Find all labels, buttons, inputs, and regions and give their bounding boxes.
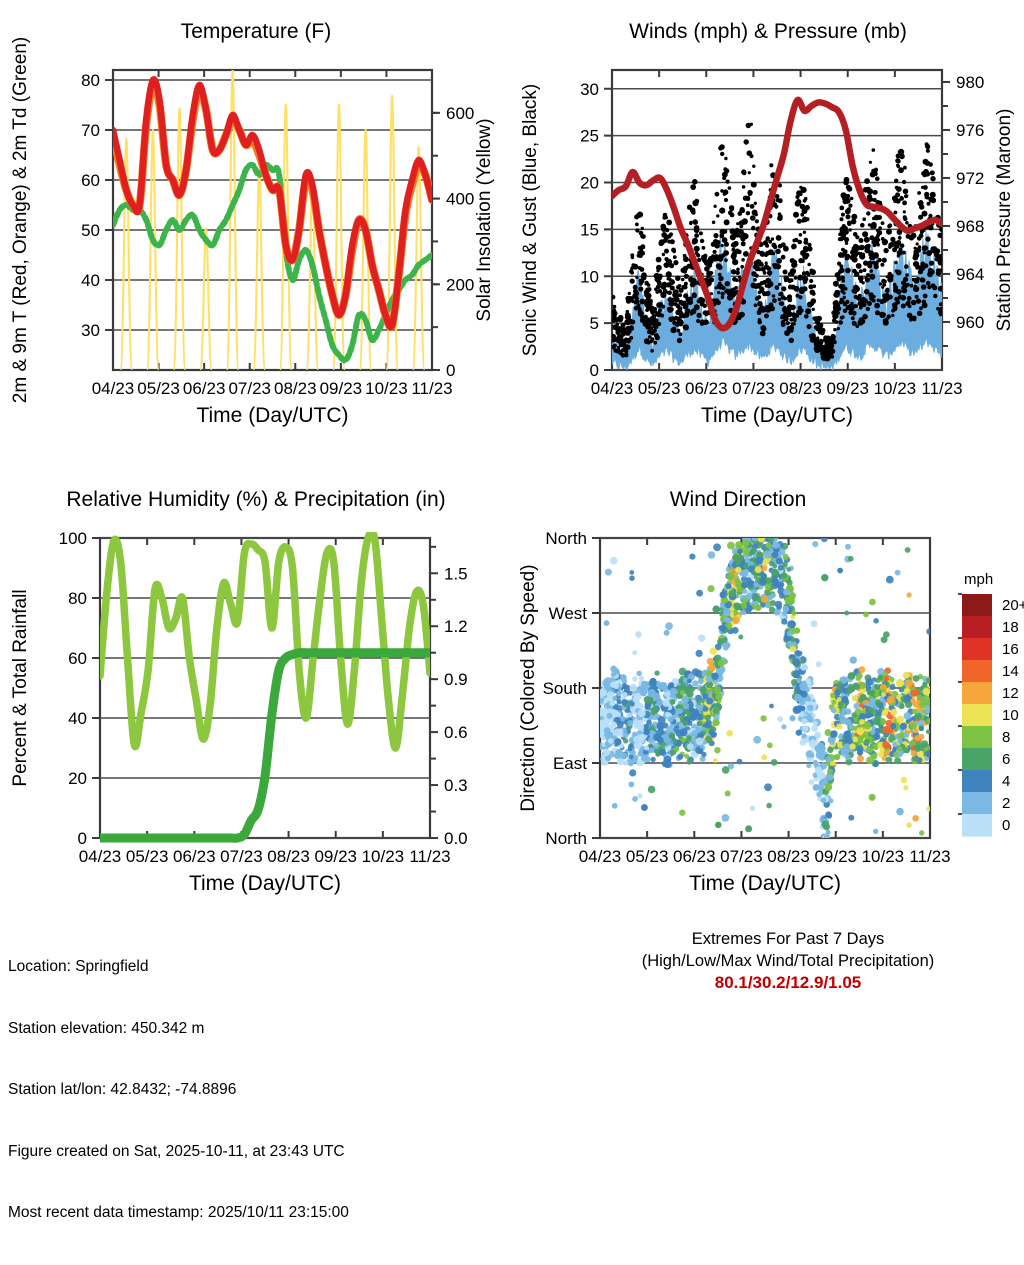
svg-text:10: 10 — [580, 267, 599, 286]
svg-text:980: 980 — [956, 73, 984, 92]
weather-dashboard: Temperature (F) 04/2305/2306/2307/2308/2… — [0, 0, 1024, 1024]
svg-text:10/23: 10/23 — [862, 847, 905, 866]
svg-text:10/23: 10/23 — [365, 379, 408, 398]
svg-text:08/23: 08/23 — [779, 379, 822, 398]
svg-text:4: 4 — [1002, 773, 1010, 790]
svg-text:600: 600 — [446, 104, 474, 123]
svg-text:09/23: 09/23 — [314, 847, 357, 866]
svg-text:968: 968 — [956, 217, 984, 236]
svg-text:0.3: 0.3 — [444, 776, 468, 795]
svg-text:964: 964 — [956, 265, 984, 284]
panel-title-wind-direction: Wind Direction — [482, 488, 994, 512]
svg-text:0.9: 0.9 — [444, 670, 468, 689]
svg-text:30: 30 — [81, 321, 100, 340]
panel-winds: Winds (mph) & Pressure (mb) 04/2305/2306… — [512, 20, 1024, 450]
svg-text:mph: mph — [964, 571, 993, 588]
extremes-block: Extremes For Past 7 Days (High/Low/Max W… — [588, 928, 988, 994]
svg-text:14: 14 — [1002, 663, 1019, 680]
svg-text:10/23: 10/23 — [874, 379, 917, 398]
svg-text:8: 8 — [1002, 729, 1010, 746]
svg-text:Station Pressure (Maroon): Station Pressure (Maroon) — [994, 109, 1015, 332]
svg-text:30: 30 — [580, 80, 599, 99]
svg-text:07/23: 07/23 — [220, 847, 263, 866]
svg-text:400: 400 — [446, 190, 474, 209]
svg-text:0: 0 — [446, 361, 455, 380]
svg-text:960: 960 — [956, 313, 984, 332]
svg-text:Time (Day/UTC): Time (Day/UTC) — [196, 404, 348, 427]
svg-text:1.2: 1.2 — [444, 617, 468, 636]
svg-text:80: 80 — [81, 71, 100, 90]
svg-text:Direction (Colored By Speed): Direction (Colored By Speed) — [518, 564, 539, 811]
svg-text:100: 100 — [59, 529, 87, 548]
svg-text:North: North — [545, 529, 587, 548]
svg-text:6: 6 — [1002, 751, 1010, 768]
svg-text:06/23: 06/23 — [685, 379, 728, 398]
svg-text:08/23: 08/23 — [767, 847, 810, 866]
footer-line-latlon: Station lat/lon: 42.8432; -74.8896 — [8, 1080, 349, 1101]
svg-text:50: 50 — [81, 221, 100, 240]
panel-wind-direction: Wind Direction 04/2305/2306/2307/2308/23… — [512, 488, 1024, 918]
svg-text:Time (Day/UTC): Time (Day/UTC) — [689, 872, 841, 895]
svg-text:2m & 9m T (Red, Orange) & 2m T: 2m & 9m T (Red, Orange) & 2m Td (Green) — [10, 37, 31, 403]
footer-line-elevation: Station elevation: 450.342 m — [8, 1019, 349, 1040]
svg-text:18: 18 — [1002, 619, 1019, 636]
svg-text:5: 5 — [590, 314, 599, 333]
svg-text:04/23: 04/23 — [579, 847, 622, 866]
svg-text:12: 12 — [1002, 685, 1019, 702]
svg-text:08/23: 08/23 — [274, 379, 317, 398]
svg-text:07/23: 07/23 — [720, 847, 763, 866]
temperature-chart: 04/2305/2306/2307/2308/2309/2310/2311/23… — [0, 20, 512, 450]
footer-line-created: Figure created on Sat, 2025-10-11, at 23… — [8, 1142, 349, 1163]
svg-text:10/23: 10/23 — [362, 847, 405, 866]
svg-text:0: 0 — [1002, 817, 1010, 834]
svg-text:200: 200 — [446, 275, 474, 294]
svg-text:North: North — [545, 829, 587, 848]
svg-text:07/23: 07/23 — [228, 379, 271, 398]
svg-text:40: 40 — [81, 271, 100, 290]
svg-text:Time (Day/UTC): Time (Day/UTC) — [189, 872, 341, 895]
svg-text:05/23: 05/23 — [638, 379, 681, 398]
svg-text:07/23: 07/23 — [732, 379, 775, 398]
svg-text:10: 10 — [1002, 707, 1019, 724]
svg-text:09/23: 09/23 — [320, 379, 363, 398]
svg-text:South: South — [543, 679, 587, 698]
svg-text:11/23: 11/23 — [409, 847, 450, 866]
panel-title-winds: Winds (mph) & Pressure (mb) — [512, 20, 1024, 44]
svg-text:11/23: 11/23 — [909, 847, 950, 866]
svg-text:976: 976 — [956, 121, 984, 140]
footer-metadata: Location: Springfield Station elevation:… — [8, 916, 349, 1265]
svg-text:2: 2 — [1002, 795, 1010, 812]
svg-text:05/23: 05/23 — [626, 847, 669, 866]
svg-text:60: 60 — [68, 649, 87, 668]
svg-text:60: 60 — [81, 171, 100, 190]
svg-text:06/23: 06/23 — [183, 379, 226, 398]
svg-text:0.0: 0.0 — [444, 829, 468, 848]
svg-text:Sonic Wind & Gust (Blue, Black: Sonic Wind & Gust (Blue, Black) — [520, 84, 541, 356]
svg-text:04/23: 04/23 — [591, 379, 634, 398]
wind-direction-chart: 04/2305/2306/2307/2308/2309/2310/2311/23… — [512, 488, 1024, 918]
svg-text:09/23: 09/23 — [826, 379, 869, 398]
svg-text:06/23: 06/23 — [173, 847, 216, 866]
footer-line-location: Location: Springfield — [8, 957, 349, 978]
svg-text:20: 20 — [580, 174, 599, 193]
svg-text:East: East — [553, 754, 587, 773]
svg-text:04/23: 04/23 — [92, 379, 135, 398]
svg-text:40: 40 — [68, 709, 87, 728]
svg-text:West: West — [549, 604, 588, 623]
svg-text:20: 20 — [68, 769, 87, 788]
svg-text:08/23: 08/23 — [267, 847, 310, 866]
svg-text:80: 80 — [68, 589, 87, 608]
panel-title-humidity: Relative Humidity (%) & Precipitation (i… — [0, 488, 512, 512]
svg-text:Time (Day/UTC): Time (Day/UTC) — [701, 404, 853, 427]
svg-text:16: 16 — [1002, 641, 1019, 658]
footer-line-timestamp: Most recent data timestamp: 2025/10/11 2… — [8, 1203, 349, 1224]
svg-text:972: 972 — [956, 169, 984, 188]
svg-text:15: 15 — [580, 220, 599, 239]
svg-text:25: 25 — [580, 127, 599, 146]
humidity-chart: 04/2305/2306/2307/2308/2309/2310/2311/23… — [0, 488, 512, 918]
svg-text:0.6: 0.6 — [444, 723, 468, 742]
svg-text:1.5: 1.5 — [444, 564, 468, 583]
svg-text:Percent & Total Rainfall: Percent & Total Rainfall — [10, 589, 31, 786]
svg-text:06/23: 06/23 — [673, 847, 716, 866]
panel-temperature: Temperature (F) 04/2305/2306/2307/2308/2… — [0, 20, 512, 450]
svg-text:05/23: 05/23 — [137, 379, 180, 398]
panel-humidity: Relative Humidity (%) & Precipitation (i… — [0, 488, 512, 918]
svg-text:Solar Insolation (Yellow): Solar Insolation (Yellow) — [474, 118, 495, 321]
svg-text:20+: 20+ — [1002, 597, 1024, 614]
extremes-subheading: (High/Low/Max Wind/Total Precipitation) — [588, 950, 988, 972]
extremes-values: 80.1/30.2/12.9/1.05 — [588, 972, 988, 994]
extremes-heading: Extremes For Past 7 Days — [588, 928, 988, 950]
panel-title-temperature: Temperature (F) — [0, 20, 512, 44]
svg-text:09/23: 09/23 — [814, 847, 857, 866]
svg-text:70: 70 — [81, 121, 100, 140]
svg-text:04/23: 04/23 — [79, 847, 122, 866]
svg-text:11/23: 11/23 — [411, 379, 452, 398]
svg-text:0: 0 — [590, 361, 599, 380]
winds-chart: 04/2305/2306/2307/2308/2309/2310/2311/23… — [512, 20, 1024, 450]
svg-text:05/23: 05/23 — [126, 847, 169, 866]
svg-text:0: 0 — [78, 829, 87, 848]
svg-text:11/23: 11/23 — [921, 379, 962, 398]
